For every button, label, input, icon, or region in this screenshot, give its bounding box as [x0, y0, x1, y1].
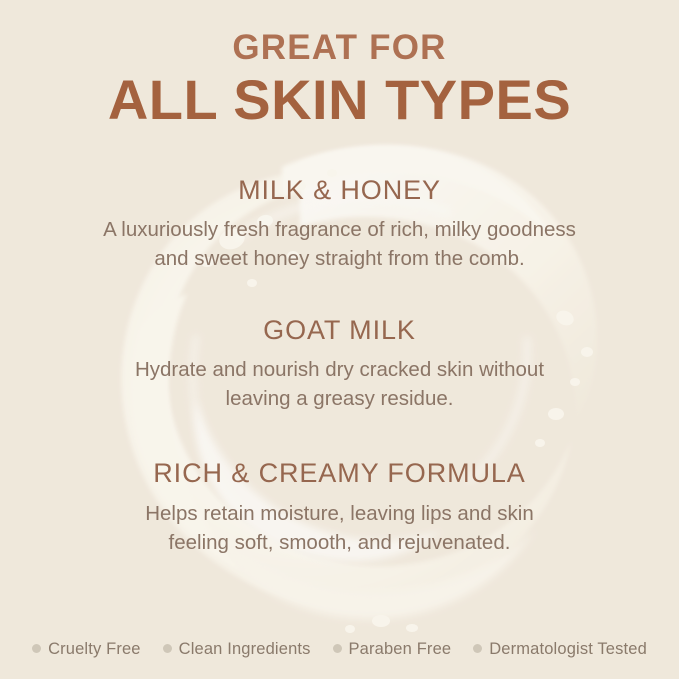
claim-badge-label: Dermatologist Tested — [489, 641, 647, 658]
claims-badge-row: Cruelty Free Clean Ingredients Paraben F… — [0, 641, 679, 658]
section-title: GOAT MILK — [0, 314, 679, 346]
section-body: A luxuriously fresh fragrance of rich, m… — [60, 215, 620, 273]
product-benefits-poster: GREAT FOR ALL SKIN TYPES MILK & HONEY A … — [0, 0, 679, 679]
section-body: Hydrate and nourish dry cracked skin wit… — [60, 355, 620, 413]
section-body-line: Hydrate and nourish dry cracked skin wit… — [60, 355, 620, 384]
section-title: MILK & HONEY — [0, 174, 679, 206]
bullet-dot-icon — [473, 644, 482, 653]
section-body-line: feeling soft, smooth, and rejuvenated. — [60, 528, 620, 557]
claim-badge-label: Cruelty Free — [48, 641, 141, 658]
section-body-line: and sweet honey straight from the comb. — [60, 244, 620, 273]
section-title: RICH & CREAMY FORMULA — [0, 457, 679, 489]
claim-badge-dermatologist-tested: Dermatologist Tested — [462, 641, 658, 658]
page-title: ALL SKIN TYPES — [0, 69, 679, 132]
claim-badge-cruelty-free: Cruelty Free — [21, 641, 152, 658]
claim-badge-label: Paraben Free — [349, 641, 452, 658]
claim-badge-paraben-free: Paraben Free — [322, 641, 463, 658]
headline-eyebrow: GREAT FOR — [0, 28, 679, 67]
section-body: Helps retain moisture, leaving lips and … — [60, 499, 620, 557]
benefit-section-milk-honey: MILK & HONEY A luxuriously fresh fragran… — [0, 174, 679, 274]
section-body-line: A luxuriously fresh fragrance of rich, m… — [60, 215, 620, 244]
bullet-dot-icon — [32, 644, 41, 653]
claim-badge-label: Clean Ingredients — [179, 641, 311, 658]
benefit-section-goat-milk: GOAT MILK Hydrate and nourish dry cracke… — [0, 314, 679, 414]
benefit-section-rich-creamy-formula: RICH & CREAMY FORMULA Helps retain moist… — [0, 457, 679, 557]
claim-badge-clean-ingredients: Clean Ingredients — [152, 641, 322, 658]
headline-block: GREAT FOR ALL SKIN TYPES — [0, 0, 679, 132]
bullet-dot-icon — [163, 644, 172, 653]
bullet-dot-icon — [333, 644, 342, 653]
benefit-sections: MILK & HONEY A luxuriously fresh fragran… — [0, 168, 679, 557]
poster-content: GREAT FOR ALL SKIN TYPES MILK & HONEY A … — [0, 0, 679, 679]
section-body-line: leaving a greasy residue. — [60, 384, 620, 413]
section-body-line: Helps retain moisture, leaving lips and … — [60, 499, 620, 528]
